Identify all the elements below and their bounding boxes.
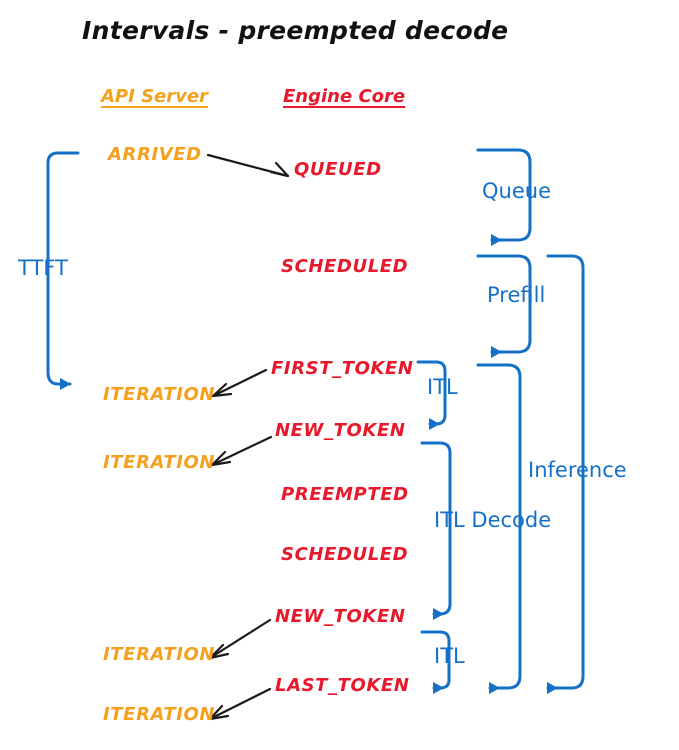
arrow-arrived-to-queued [208,155,288,176]
state-api-iteration-1: ITERATION [103,386,215,404]
state-api-iteration-2: ITERATION [103,454,215,472]
column-header-engine-core: Engine Core [283,88,405,106]
state-engine-new-token-2: NEW_TOKEN [275,608,406,626]
interval-label-ttft: TTFT [18,258,68,279]
arrow-lasttoken-to-iteration [210,689,270,719]
state-api-iteration-3: ITERATION [103,646,215,664]
page-title: Intervals - preempted decode [82,18,508,43]
arrow-newtoken-to-iteration-1 [212,437,271,465]
arrow-newtoken-to-iteration-2 [210,620,270,658]
interval-label-inference: Inference [528,460,627,481]
state-engine-scheduled-2: SCHEDULED [281,546,408,564]
interval-label-itl-decode: ITL Decode [434,510,551,531]
diagram-canvas: Intervals - preempted decode API Server … [0,0,679,750]
state-engine-first-token: FIRST_TOKEN [271,360,414,378]
state-engine-scheduled-1: SCHEDULED [281,258,408,276]
state-engine-queued: QUEUED [294,161,382,179]
interval-label-itl-last: ITL [434,646,465,667]
interval-label-queue: Queue [482,181,551,202]
state-engine-last-token: LAST_TOKEN [275,677,410,695]
state-engine-preempted: PREEMPTED [281,486,409,504]
arrow-firsttoken-to-iteration [213,370,266,396]
state-api-iteration-4: ITERATION [103,706,215,724]
state-engine-new-token-1: NEW_TOKEN [275,422,406,440]
interval-label-itl-first: ITL [427,377,458,398]
state-api-arrived: ARRIVED [108,146,202,164]
interval-label-prefill: Prefill [487,285,545,306]
column-header-api-server: API Server [101,88,208,106]
